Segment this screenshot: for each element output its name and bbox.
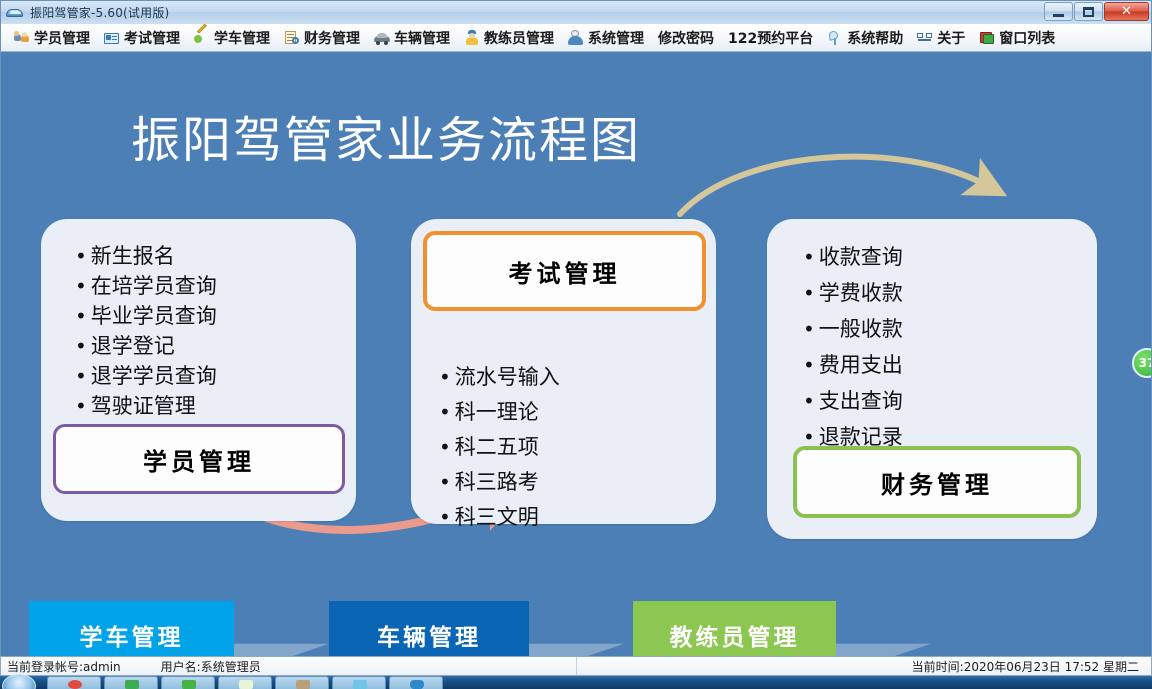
status-account: 当前登录帐号:admin bbox=[7, 658, 121, 675]
taskbar-item[interactable] bbox=[161, 676, 215, 689]
menu-bar: 学员管理 考试管理 学车管理 财务管理 车辆管理 教练员管理 系统管理 修改密码 bbox=[0, 24, 1152, 52]
card-icon bbox=[104, 30, 120, 46]
minimize-button[interactable] bbox=[1044, 2, 1073, 21]
about-icon bbox=[917, 30, 933, 46]
menu-item-label: 考试管理 bbox=[124, 28, 180, 48]
card-student-management[interactable]: 新生报名 在培学员查询 毕业学员查询 退学登记 退学学员查询 驾驶证管理 学员管… bbox=[41, 219, 356, 521]
list-item: 支出查询 bbox=[803, 391, 1133, 412]
menu-item-exam-management[interactable]: 考试管理 bbox=[97, 26, 187, 50]
menu-item-change-password[interactable]: 修改密码 bbox=[651, 26, 721, 50]
diagram-title: 振阳驾管家业务流程图 bbox=[131, 116, 641, 165]
title-bar: 振阳驾管家-5.60(试用版) ✕ bbox=[0, 0, 1152, 24]
list-item: 在培学员查询 bbox=[75, 276, 390, 297]
status-username: 用户名:系统管理员 bbox=[161, 658, 261, 675]
menu-item-system-help[interactable]: 系统帮助 bbox=[820, 26, 910, 50]
chevron-shadow bbox=[529, 624, 624, 656]
pencil-icon bbox=[194, 30, 210, 46]
status-account-cell: 当前登录帐号:admin 用户名:系统管理员 bbox=[1, 657, 577, 675]
menu-item-label: 关于 bbox=[937, 28, 965, 48]
menu-item-label: 122预约平台 bbox=[728, 28, 813, 48]
windows-taskbar[interactable] bbox=[0, 676, 1152, 689]
taskbar-item[interactable] bbox=[332, 676, 386, 689]
close-button[interactable]: ✕ bbox=[1104, 2, 1149, 21]
box-driving-lesson-management[interactable]: 学车管理 bbox=[29, 601, 234, 656]
pill-student-management[interactable]: 学员管理 bbox=[53, 424, 345, 494]
car-icon bbox=[374, 30, 390, 46]
maximize-button[interactable] bbox=[1074, 2, 1103, 21]
menu-item-label: 车辆管理 bbox=[394, 28, 450, 48]
menu-item-label: 窗口列表 bbox=[999, 28, 1055, 48]
menu-item-label: 学车管理 bbox=[214, 28, 270, 48]
menu-item-label: 系统管理 bbox=[588, 28, 644, 48]
pill-finance-management[interactable]: 财务管理 bbox=[793, 446, 1081, 518]
list-item: 一般收款 bbox=[803, 319, 1133, 340]
list-item: 驾驶证管理 bbox=[75, 396, 390, 417]
menu-item-coach-management[interactable]: 教练员管理 bbox=[457, 26, 561, 50]
business-flow-diagram: 振阳驾管家业务流程图 新生报名 在培学员查询 毕业学员查询 退学登记 退学学员查 bbox=[0, 52, 1152, 656]
pill-exam-management[interactable]: 考试管理 bbox=[423, 231, 706, 311]
taskbar-item[interactable] bbox=[275, 676, 329, 689]
list-item: 退学登记 bbox=[75, 336, 390, 357]
side-notification-badge[interactable]: 37 bbox=[1132, 348, 1152, 378]
taskbar-item[interactable] bbox=[47, 676, 101, 689]
list-item: 流水号输入 bbox=[439, 367, 744, 388]
people-icon bbox=[14, 30, 30, 46]
menu-item-vehicle-management[interactable]: 车辆管理 bbox=[367, 26, 457, 50]
exam-to-finance-arrow bbox=[680, 157, 986, 214]
student-bullet-list: 新生报名 在培学员查询 毕业学员查询 退学登记 退学学员查询 驾驶证管理 bbox=[75, 246, 390, 426]
help-balloon-icon bbox=[827, 30, 843, 46]
app-icon bbox=[5, 5, 25, 21]
box-coach-management[interactable]: 教练员管理 bbox=[633, 601, 836, 656]
list-item: 科二五项 bbox=[439, 437, 744, 458]
menu-item-label: 教练员管理 bbox=[484, 28, 554, 48]
system-user-icon bbox=[568, 30, 584, 46]
application-window: 振阳驾管家-5.60(试用版) ✕ 学员管理 考试管理 学车管理 财务管理 车辆… bbox=[0, 0, 1152, 689]
menu-item-system-management[interactable]: 系统管理 bbox=[561, 26, 651, 50]
list-item: 新生报名 bbox=[75, 246, 390, 267]
chevron-shadow bbox=[836, 624, 931, 656]
card-finance-management[interactable]: 收款查询 学费收款 一般收款 费用支出 支出查询 退款记录 退款查询 财务管理 bbox=[767, 219, 1097, 539]
menu-item-label: 修改密码 bbox=[658, 28, 714, 48]
window-title: 振阳驾管家-5.60(试用版) bbox=[30, 4, 169, 21]
taskbar-item[interactable] bbox=[104, 676, 158, 689]
menu-item-122-platform[interactable]: 122预约平台 bbox=[721, 26, 820, 50]
taskbar-item[interactable] bbox=[218, 676, 272, 689]
menu-item-label: 系统帮助 bbox=[847, 28, 903, 48]
chevron-shadow bbox=[234, 624, 329, 656]
start-orb-icon[interactable] bbox=[2, 674, 36, 689]
menu-item-label: 学员管理 bbox=[34, 28, 90, 48]
menu-item-label: 财务管理 bbox=[304, 28, 360, 48]
document-search-icon bbox=[284, 30, 300, 46]
list-item: 科三文明 bbox=[439, 507, 744, 528]
exam-bullet-list: 流水号输入 科一理论 科二五项 科三路考 科三文明 bbox=[439, 367, 744, 542]
menu-item-driving-lesson-management[interactable]: 学车管理 bbox=[187, 26, 277, 50]
status-datetime: 当前时间:2020年06月23日 17:52 星期二 bbox=[906, 657, 1151, 675]
list-item: 毕业学员查询 bbox=[75, 306, 390, 327]
menu-item-student-management[interactable]: 学员管理 bbox=[7, 26, 97, 50]
card-exam-management[interactable]: 考试管理 流水号输入 科一理论 科二五项 科三路考 科三文明 bbox=[411, 219, 716, 524]
taskbar-item[interactable] bbox=[389, 676, 443, 689]
menu-item-window-list[interactable]: 窗口列表 bbox=[972, 26, 1062, 50]
box-vehicle-management[interactable]: 车辆管理 bbox=[329, 601, 529, 656]
coach-icon bbox=[464, 30, 480, 46]
status-bar: 当前登录帐号:admin 用户名:系统管理员 当前时间:2020年06月23日 … bbox=[0, 656, 1152, 676]
list-item: 退款记录 bbox=[803, 427, 1133, 448]
menu-item-about[interactable]: 关于 bbox=[910, 26, 972, 50]
list-item: 科一理论 bbox=[439, 402, 744, 423]
list-item: 科三路考 bbox=[439, 472, 744, 493]
list-item: 学费收款 bbox=[803, 283, 1133, 304]
window-controls: ✕ bbox=[1043, 2, 1149, 21]
menu-item-finance-management[interactable]: 财务管理 bbox=[277, 26, 367, 50]
list-item: 退学学员查询 bbox=[75, 366, 390, 387]
list-item: 收款查询 bbox=[803, 247, 1133, 268]
list-item: 费用支出 bbox=[803, 355, 1133, 376]
windows-list-icon bbox=[979, 30, 995, 46]
